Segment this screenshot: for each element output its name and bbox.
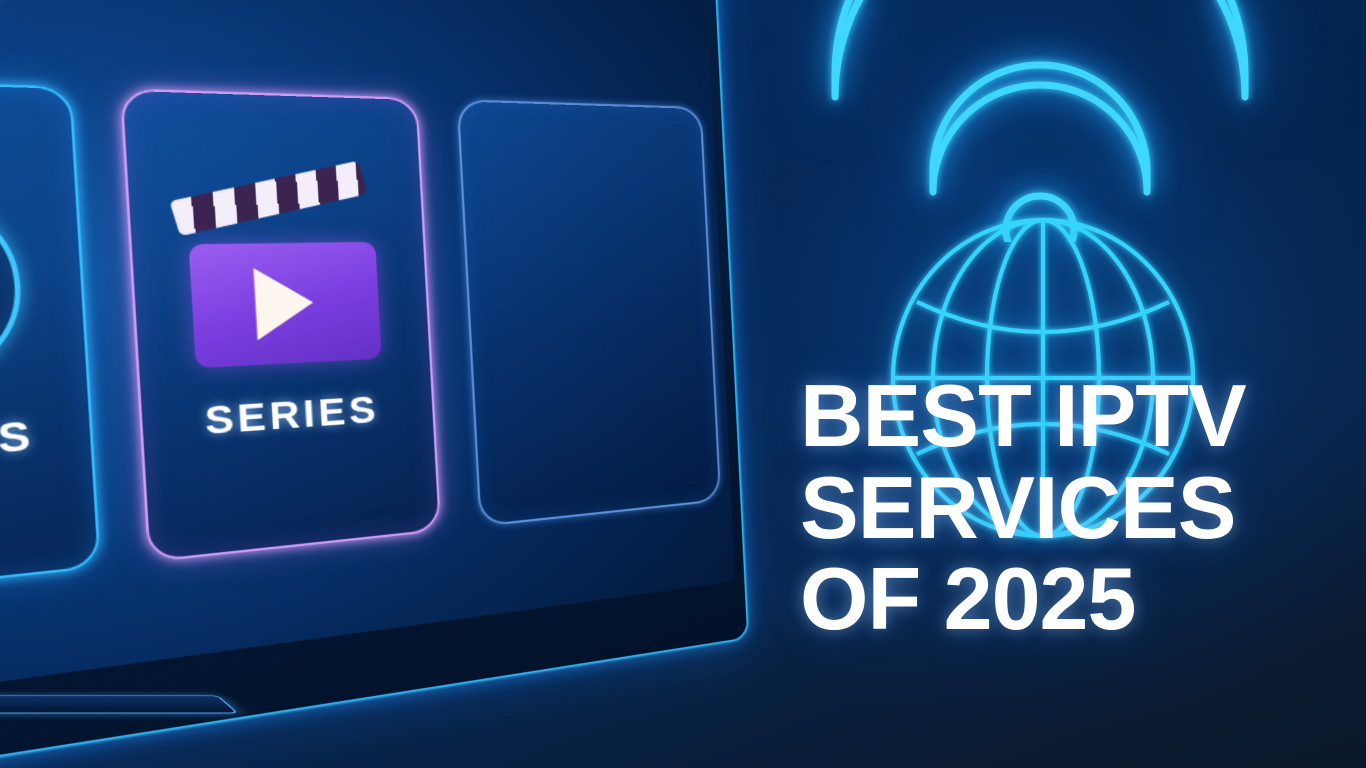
headline-line-1: BEST IPTV	[800, 370, 1366, 462]
headline: BEST IPTV SERVICES OF 2025	[800, 370, 1366, 645]
tile-next-partial[interactable]	[457, 99, 721, 527]
tv-stand-base	[0, 695, 239, 713]
soccer-ball-icon	[0, 190, 27, 393]
screen-title: STREAMING	[0, 0, 24, 12]
promo-banner: STREAMING MOVIES	[0, 0, 1366, 768]
clapperboard-icon	[180, 195, 386, 368]
headline-line-3: OF 2025	[800, 553, 1366, 645]
tile-row: MOVIES	[0, 57, 735, 663]
tv-body: STREAMING MOVIES	[0, 0, 747, 768]
tile-series[interactable]: SERIES	[120, 88, 442, 562]
television: STREAMING MOVIES	[0, 0, 760, 730]
tile-sports[interactable]: SPORTS	[0, 75, 101, 607]
clapper-stick-icon	[169, 161, 367, 236]
clapper-board-play-icon	[188, 242, 381, 368]
wifi-signal-icon	[805, 0, 1275, 242]
ball-panels-icon	[0, 190, 27, 393]
tile-label-series: SERIES	[203, 388, 380, 445]
headline-line-2: SERVICES	[800, 462, 1366, 554]
tile-label-sports: SPORTS	[0, 413, 36, 479]
